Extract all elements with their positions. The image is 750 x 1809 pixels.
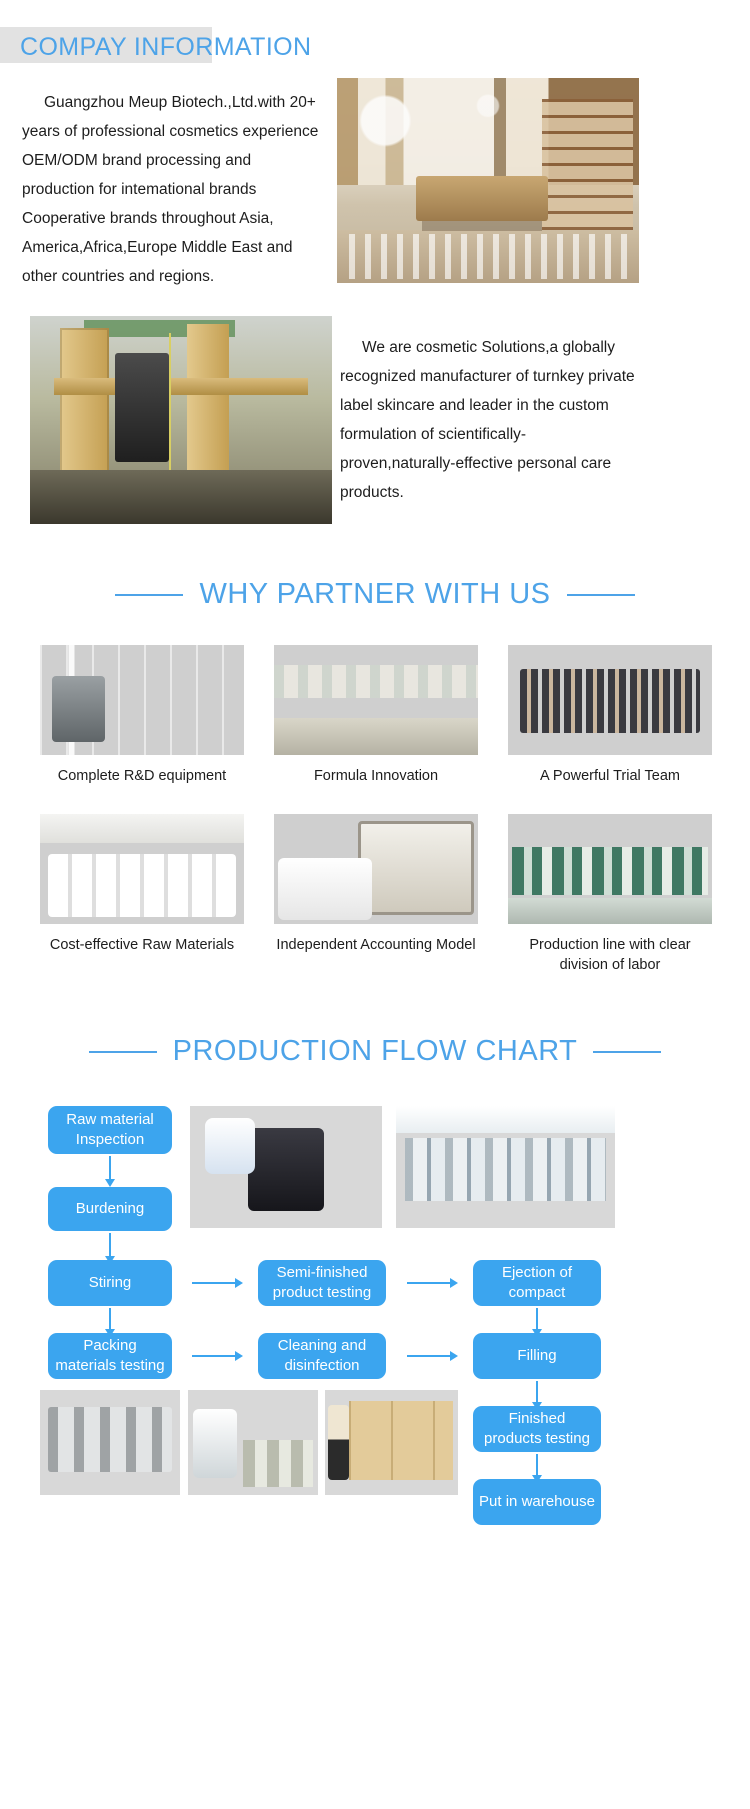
flow-node-packing-materials-testing[interactable]: Packing materials testing (48, 1333, 172, 1379)
arrow-right-3 (192, 1355, 236, 1357)
arrow-down-5 (536, 1381, 538, 1403)
dark-module-decor (115, 353, 169, 461)
arrow-down-6 (536, 1454, 538, 1476)
equipment-photo (40, 1390, 180, 1495)
why-item-caption: Complete R&D equipment (40, 766, 244, 786)
arrow-right-1 (192, 1282, 236, 1284)
heading-rule-left (115, 594, 183, 596)
heading-rule-left (89, 1051, 157, 1053)
why-item-trial-team[interactable]: A Powerful Trial Team (508, 645, 712, 786)
production-flow-heading: PRODUCTION FLOW CHART (0, 1035, 750, 1068)
production-line-photo (508, 814, 712, 924)
production-flow-chart: Raw material Inspection Burdening Stirin… (0, 1090, 750, 1510)
raw-materials-photo (40, 814, 244, 924)
company-paragraph-left: Guangzhou Meup Biotech.,Ltd.with 20+ yea… (22, 88, 322, 291)
arrow-down-1 (109, 1156, 111, 1180)
page-root: COMPAY INFORMATION Guangzhou Meup Biotec… (0, 0, 750, 1809)
why-item-production-line[interactable]: Production line with clear division of l… (508, 814, 712, 975)
arrow-down-3 (109, 1308, 111, 1330)
why-partner-grid: Complete R&D equipment Formula Innovatio… (40, 645, 712, 975)
bottles-decor (349, 234, 627, 279)
heading-rule-right (593, 1051, 661, 1053)
laboratory-photo (274, 645, 478, 755)
why-item-caption: Cost-effective Raw Materials (40, 935, 244, 955)
shelf-decor (542, 99, 633, 247)
company-section-title: COMPAY INFORMATION (20, 33, 311, 62)
flow-node-finished-products-testing[interactable]: Finished products testing (473, 1406, 601, 1452)
why-item-accounting-model[interactable]: Independent Accounting Model (274, 814, 478, 975)
why-item-caption: A Powerful Trial Team (508, 766, 712, 786)
why-item-caption: Formula Innovation (274, 766, 478, 786)
why-item-caption: Independent Accounting Model (274, 935, 478, 955)
arrow-down-4 (536, 1308, 538, 1330)
why-item-rd-equipment[interactable]: Complete R&D equipment (40, 645, 244, 786)
why-item-formula-innovation[interactable]: Formula Innovation (274, 645, 478, 786)
cleanroom-photo (396, 1106, 615, 1228)
why-partner-row-1: Complete R&D equipment Formula Innovatio… (40, 645, 712, 786)
flow-node-raw-material-inspection[interactable]: Raw material Inspection (48, 1106, 172, 1154)
why-partner-heading: WHY PARTNER WITH US (0, 578, 750, 611)
steel-base-decor (30, 470, 332, 524)
why-item-caption: Production line with clear division of l… (508, 935, 712, 975)
why-partner-row-2: Cost-effective Raw Materials Independent… (40, 814, 712, 975)
flow-node-filling[interactable]: Filling (473, 1333, 601, 1379)
worker-lab-photo (188, 1390, 318, 1495)
bar-decor (54, 378, 308, 395)
arrow-right-2 (407, 1282, 451, 1284)
flow-node-put-in-warehouse[interactable]: Put in warehouse (473, 1479, 601, 1525)
flow-node-ejection-of-compact[interactable]: Ejection of compact (473, 1260, 601, 1306)
office-showroom-image (337, 78, 639, 283)
why-item-raw-materials[interactable]: Cost-effective Raw Materials (40, 814, 244, 975)
office-showroom-photo (337, 78, 639, 283)
production-machine-photo (30, 316, 332, 524)
warehouse-boxes-photo (325, 1390, 458, 1495)
arrow-down-2 (109, 1233, 111, 1257)
microscope-photo (190, 1106, 382, 1228)
arrow-right-4 (407, 1355, 451, 1357)
production-flow-heading-text: PRODUCTION FLOW CHART (173, 1035, 578, 1068)
team-photo (508, 645, 712, 755)
heading-rule-right (567, 594, 635, 596)
rd-equipment-photo (40, 645, 244, 755)
wire-decor (169, 333, 171, 479)
flow-node-cleaning-and-disinfection[interactable]: Cleaning and disinfection (258, 1333, 386, 1379)
production-machine-image (30, 316, 332, 524)
flow-node-semi-finished-product-testing[interactable]: Semi-finished product testing (258, 1260, 386, 1306)
why-partner-heading-text: WHY PARTNER WITH US (199, 578, 550, 611)
flow-node-burdening[interactable]: Burdening (48, 1187, 172, 1231)
flow-node-stiring[interactable]: Stiring (48, 1260, 172, 1306)
accounting-machine-photo (274, 814, 478, 924)
company-paragraph-right: We are cosmetic Solutions,a globally rec… (340, 333, 636, 507)
